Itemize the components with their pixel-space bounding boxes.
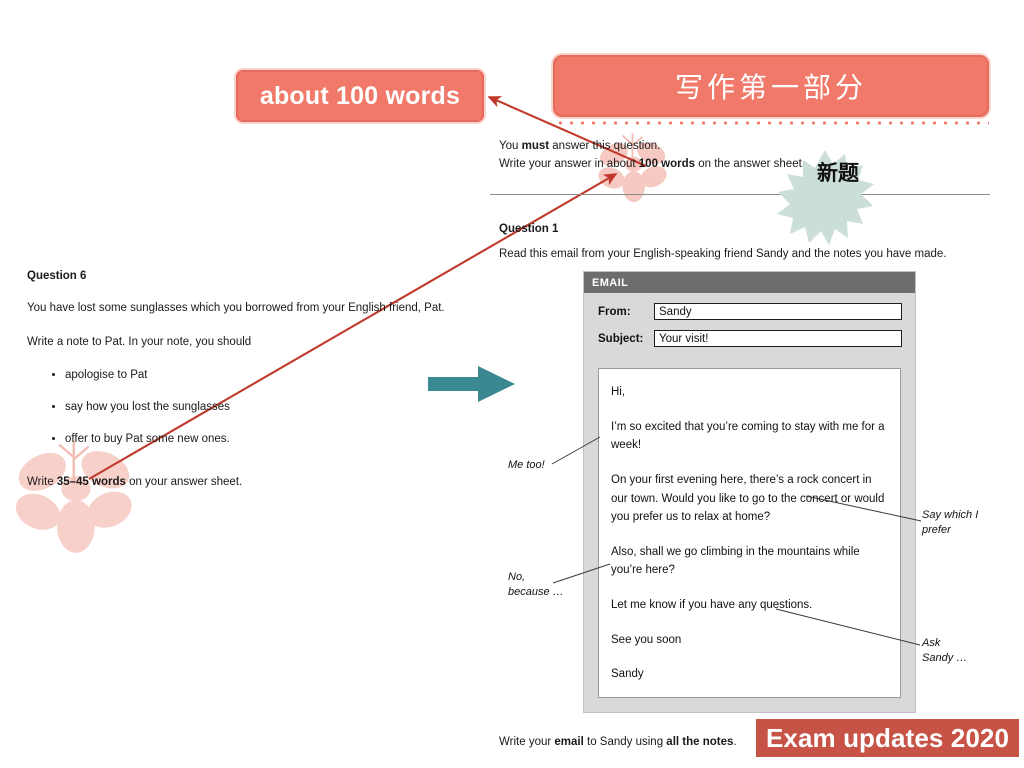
- email-panel: EMAIL From: Sandy Subject: Your visit! H…: [583, 271, 916, 713]
- note-no-because: No, because …: [508, 570, 564, 600]
- about-100-words-label: about 100 words: [260, 82, 460, 111]
- must-line-suffix: answer this question.: [549, 140, 660, 152]
- q6-write-suffix: on your answer sheet.: [126, 476, 242, 488]
- question-6-bullet-list: apologise to Pat say how you lost the su…: [27, 368, 497, 447]
- write-email-middle: to Sandy using: [584, 736, 666, 748]
- read-email-instruction: Read this email from your English-speaki…: [499, 246, 946, 263]
- write100-emphasis: 100 words: [639, 158, 695, 170]
- exam-updates-label: Exam updates 2020: [766, 723, 1009, 754]
- question-6-bullet: say how you lost the sunglasses: [65, 400, 497, 415]
- write-email-emphasis-1: email: [554, 736, 583, 748]
- email-body-paragraph: Sandy: [611, 665, 888, 684]
- email-body-paragraph: I’m so excited that you’re coming to sta…: [611, 418, 888, 455]
- new-question-badge: 新题: [775, 148, 875, 253]
- email-from-input[interactable]: Sandy: [654, 303, 902, 320]
- question-6-bullet: offer to buy Pat some new ones.: [65, 432, 497, 447]
- must-answer-instruction: You must answer this question.: [499, 138, 660, 155]
- dotted-separator: [555, 121, 989, 125]
- about-100-words-callout: about 100 words: [236, 70, 484, 122]
- email-body-paragraph: Also, shall we go climbing in the mounta…: [611, 543, 888, 580]
- write-email-instruction: Write your email to Sandy using all the …: [499, 734, 737, 751]
- email-body-paragraph: Hi,: [611, 383, 888, 402]
- email-body-paragraph: On your first evening here, there’s a ro…: [611, 471, 888, 527]
- write-email-prefix: Write your: [499, 736, 554, 748]
- email-subject-row: Subject: Your visit!: [598, 330, 915, 347]
- note-me-too: Me too!: [508, 458, 545, 473]
- email-from-label: From:: [598, 306, 654, 318]
- question-6-block: Question 6 You have lost some sunglasses…: [27, 270, 497, 464]
- email-titlebar: EMAIL: [584, 272, 915, 293]
- question-1-heading: Question 1: [499, 221, 558, 238]
- question-6-word-count-instruction: Write 35–45 words on your answer sheet.: [27, 476, 242, 488]
- q6-write-prefix: Write: [27, 476, 57, 488]
- question-6-line-2: Write a note to Pat. In your note, you s…: [27, 334, 497, 350]
- email-from-row: From: Sandy: [598, 303, 915, 320]
- note-ask-sandy: Ask Sandy …: [922, 636, 967, 666]
- write100-prefix: Write your answer in about: [499, 158, 639, 170]
- chinese-section-header-label: 写作第一部分: [675, 66, 867, 106]
- email-body-paragraph: See you soon: [611, 631, 888, 650]
- write-100-words-instruction: Write your answer in about 100 words on …: [499, 156, 805, 173]
- email-subject-label: Subject:: [598, 333, 654, 345]
- exam-updates-banner: Exam updates 2020: [756, 719, 1019, 757]
- write-email-emphasis-2: all the notes: [666, 736, 733, 748]
- must-emphasis: must: [522, 140, 549, 152]
- slide-canvas: about 100 words 写作第一部分 You must answer t…: [0, 0, 1024, 768]
- note-say-which-i-prefer: Say which I prefer: [922, 508, 978, 538]
- chinese-section-header: 写作第一部分: [553, 55, 989, 117]
- horizontal-rule: [490, 194, 990, 195]
- email-titlebar-label: EMAIL: [592, 277, 628, 289]
- email-body-paragraph: Let me know if you have any questions.: [611, 596, 888, 615]
- question-6-line-1: You have lost some sunglasses which you …: [27, 300, 497, 316]
- question-6-bullet: apologise to Pat: [65, 368, 497, 383]
- write-email-suffix: .: [733, 736, 736, 748]
- email-subject-input[interactable]: Your visit!: [654, 330, 902, 347]
- q6-write-emphasis: 35–45 words: [57, 476, 126, 488]
- new-question-badge-label: 新题: [815, 162, 861, 187]
- must-line-prefix: You: [499, 140, 522, 152]
- question-6-heading: Question 6: [27, 270, 497, 282]
- email-body[interactable]: Hi, I’m so excited that you’re coming to…: [598, 368, 901, 698]
